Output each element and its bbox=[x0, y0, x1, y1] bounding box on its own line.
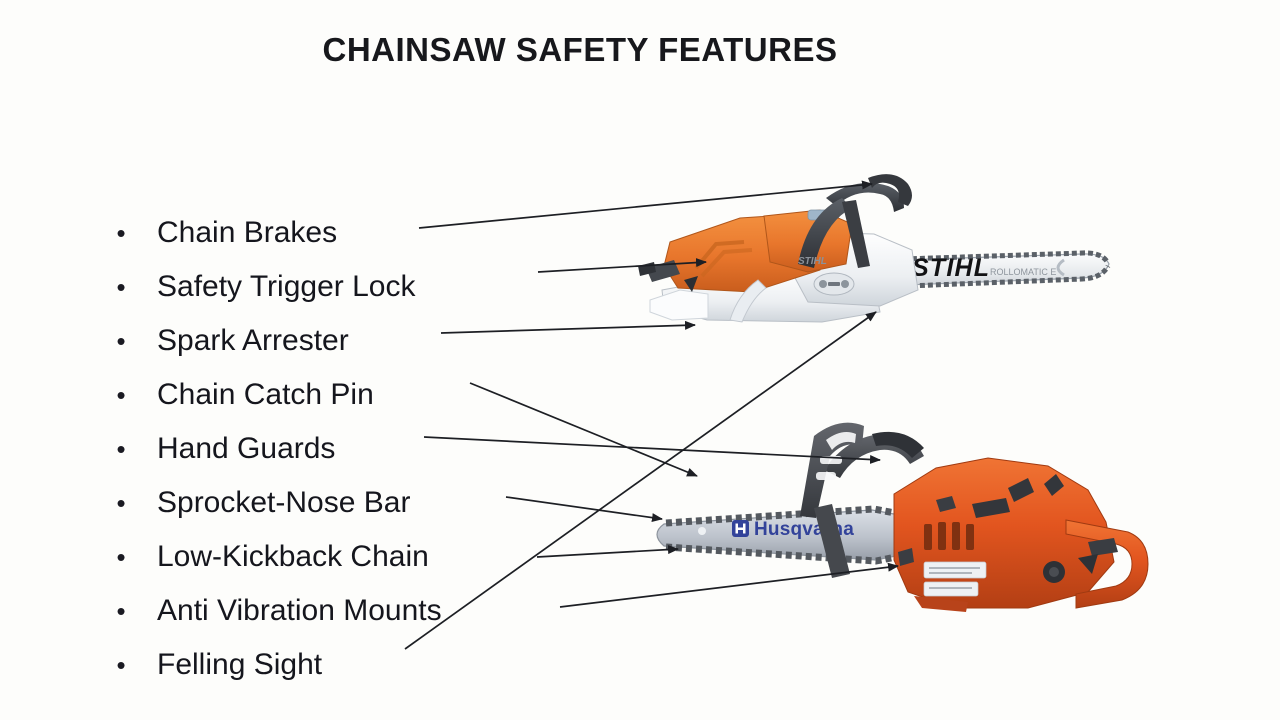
bullet-icon: • bbox=[114, 638, 128, 692]
feature-label: Sprocket-Nose Bar bbox=[157, 476, 410, 530]
husqvarna-label-bottom bbox=[924, 582, 978, 596]
bullet-icon: • bbox=[114, 530, 128, 584]
slide-canvas: CHAINSAW SAFETY FEATURES • Chain Brakes … bbox=[0, 0, 1280, 720]
bullet-icon: • bbox=[114, 260, 128, 314]
feature-label: Spark Arrester bbox=[157, 314, 349, 368]
feature-label: Low-Kickback Chain bbox=[157, 530, 429, 584]
husqvarna-guide-bar: Husqvarna bbox=[657, 509, 916, 561]
bullet-icon: • bbox=[114, 422, 128, 476]
bullet-icon: • bbox=[114, 368, 128, 422]
feature-label: Safety Trigger Lock bbox=[157, 260, 415, 314]
feature-label: Anti Vibration Mounts bbox=[157, 584, 442, 638]
svg-text:ROLLOMATIC E: ROLLOMATIC E bbox=[990, 267, 1056, 277]
list-item: • Hand Guards bbox=[108, 422, 668, 476]
husqvarna-label-top bbox=[924, 562, 986, 578]
stihl-chain-tensioner bbox=[814, 273, 854, 295]
stihl-chainsaw-image: STIHL ROLLOMATIC E bbox=[612, 172, 1184, 350]
bullet-icon: • bbox=[114, 584, 128, 638]
list-item: • Low-Kickback Chain bbox=[108, 530, 668, 584]
list-item: • Spark Arrester bbox=[108, 314, 668, 368]
list-item: • Anti Vibration Mounts bbox=[108, 584, 668, 638]
bullet-icon: • bbox=[114, 314, 128, 368]
svg-text:STIHL: STIHL bbox=[798, 256, 827, 267]
list-item: • Safety Trigger Lock bbox=[108, 260, 668, 314]
feature-label: Felling Sight bbox=[157, 638, 322, 692]
husqvarna-chainsaw-image: Husqvarna bbox=[636, 412, 1156, 644]
stihl-bar-brand: STIHL bbox=[912, 254, 990, 282]
feature-label: Chain Brakes bbox=[157, 206, 337, 260]
list-item: • Felling Sight bbox=[108, 638, 668, 692]
bullet-icon: • bbox=[114, 206, 128, 260]
feature-label: Hand Guards bbox=[157, 422, 335, 476]
feature-label: Chain Catch Pin bbox=[157, 368, 374, 422]
list-item: • Chain Catch Pin bbox=[108, 368, 668, 422]
list-item: • Chain Brakes bbox=[108, 206, 668, 260]
bullet-icon: • bbox=[114, 476, 128, 530]
page-title: CHAINSAW SAFETY FEATURES bbox=[0, 31, 1160, 69]
feature-list: • Chain Brakes • Safety Trigger Lock • S… bbox=[108, 206, 668, 692]
husqvarna-logo-icon bbox=[732, 520, 749, 537]
list-item: • Sprocket-Nose Bar bbox=[108, 476, 668, 530]
